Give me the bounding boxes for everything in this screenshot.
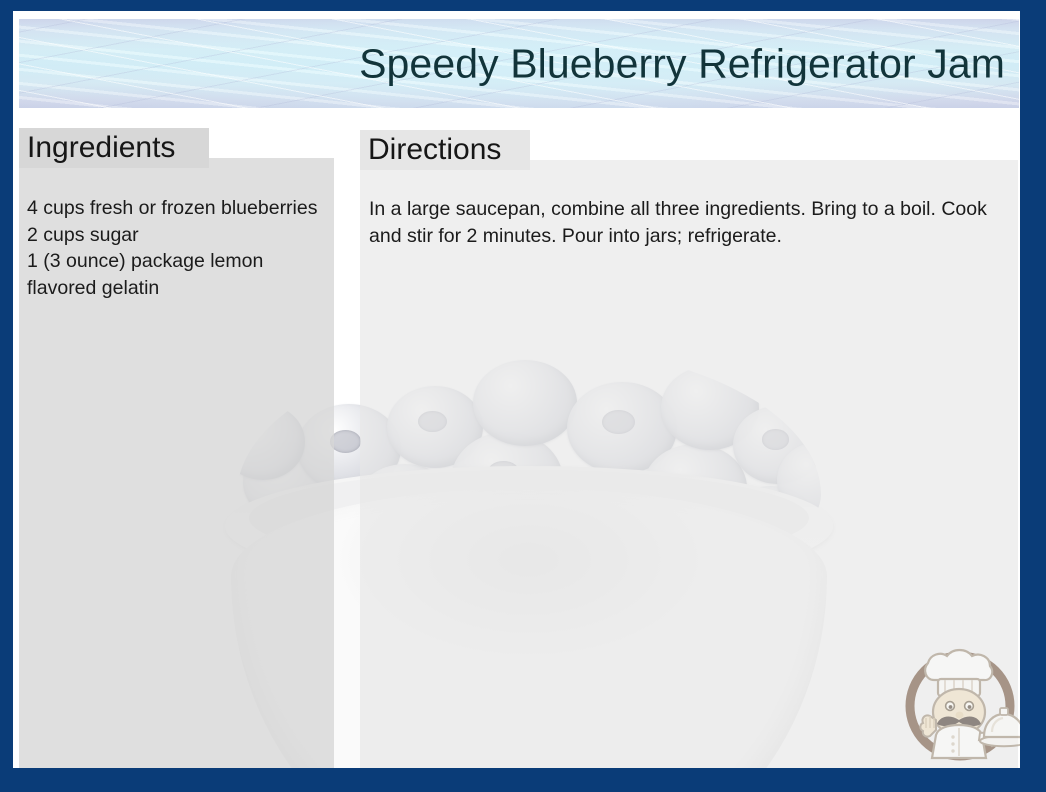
directions-text-block: In a large saucepan, combine all three i… [369, 196, 1009, 249]
frame-border-top [0, 0, 1046, 11]
list-item: 2 cups sugar [27, 222, 337, 249]
list-item: flavored gelatin [27, 275, 337, 302]
page-title: Speedy Blueberry Refrigerator Jam [359, 40, 1005, 87]
ingredients-list: 4 cups fresh or frozen blueberries 2 cup… [27, 195, 337, 302]
frame-border-left [0, 0, 13, 792]
list-item: 1 (3 ounce) package lemon [27, 248, 337, 275]
recipe-slide: Speedy Blueberry Refrigerator Jam Ingred… [0, 0, 1046, 792]
directions-heading-label: Directions [368, 135, 501, 165]
ingredients-heading-tab: Ingredients [19, 128, 209, 168]
frame-border-right [1020, 0, 1046, 792]
chef-mascot-icon [900, 636, 1030, 764]
directions-paragraph: In a large saucepan, combine all three i… [369, 196, 1009, 249]
ingredients-heading-label: Ingredients [27, 133, 175, 163]
frame-border-bottom [0, 768, 1046, 792]
directions-heading-tab: Directions [360, 130, 530, 170]
list-item: 4 cups fresh or frozen blueberries [27, 195, 337, 222]
title-banner: Speedy Blueberry Refrigerator Jam [19, 19, 1019, 108]
